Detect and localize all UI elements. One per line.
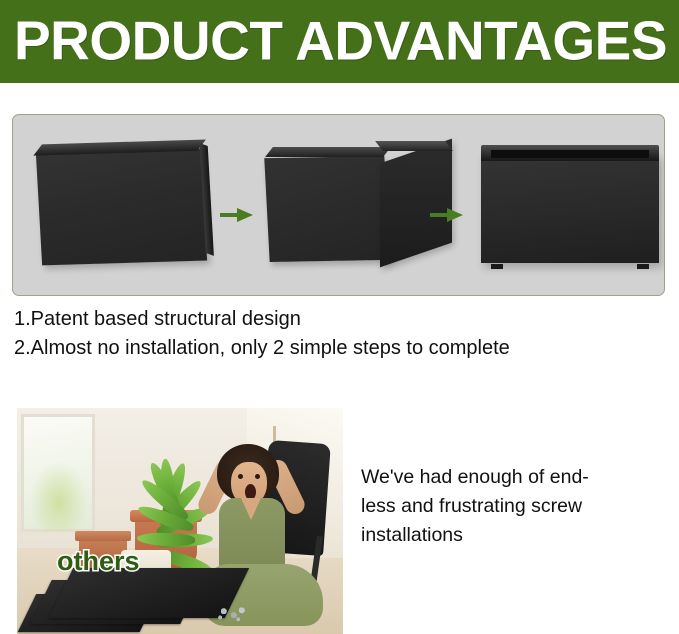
arrow-right-icon (220, 207, 254, 223)
feature-item: 2.Almost no installation, only 2 simple … (14, 334, 664, 363)
photo-scene (17, 408, 343, 634)
comparison-note: We've had enough of end- less and frustr… (361, 463, 661, 550)
diagram-stage-unfolding (261, 115, 461, 295)
comparison-photo (17, 408, 343, 634)
others-label: others (57, 548, 140, 575)
comparison-note-line: less and frustrating screw (361, 492, 661, 521)
assembled-planter-icon (481, 143, 659, 265)
flat-panel-stack (25, 568, 233, 634)
unfolding-planter-icon (267, 145, 457, 265)
folded-planter-icon (36, 149, 207, 266)
feature-list: 1.Patent based structural design 2.Almos… (14, 305, 664, 363)
feature-item: 1.Patent based structural design (14, 305, 664, 334)
page-title: PRODUCT ADVANTAGES (14, 13, 667, 68)
diagram-stage-folded (21, 115, 211, 295)
header-banner: PRODUCT ADVANTAGES (0, 0, 679, 83)
assembly-diagram-panel (12, 114, 665, 296)
comparison-note-line: installations (361, 521, 661, 550)
arrow-right-icon (430, 207, 464, 223)
diagram-stage-assembled (473, 115, 663, 295)
comparison-note-line: We've had enough of end- (361, 463, 661, 492)
screws-icon (213, 604, 249, 622)
